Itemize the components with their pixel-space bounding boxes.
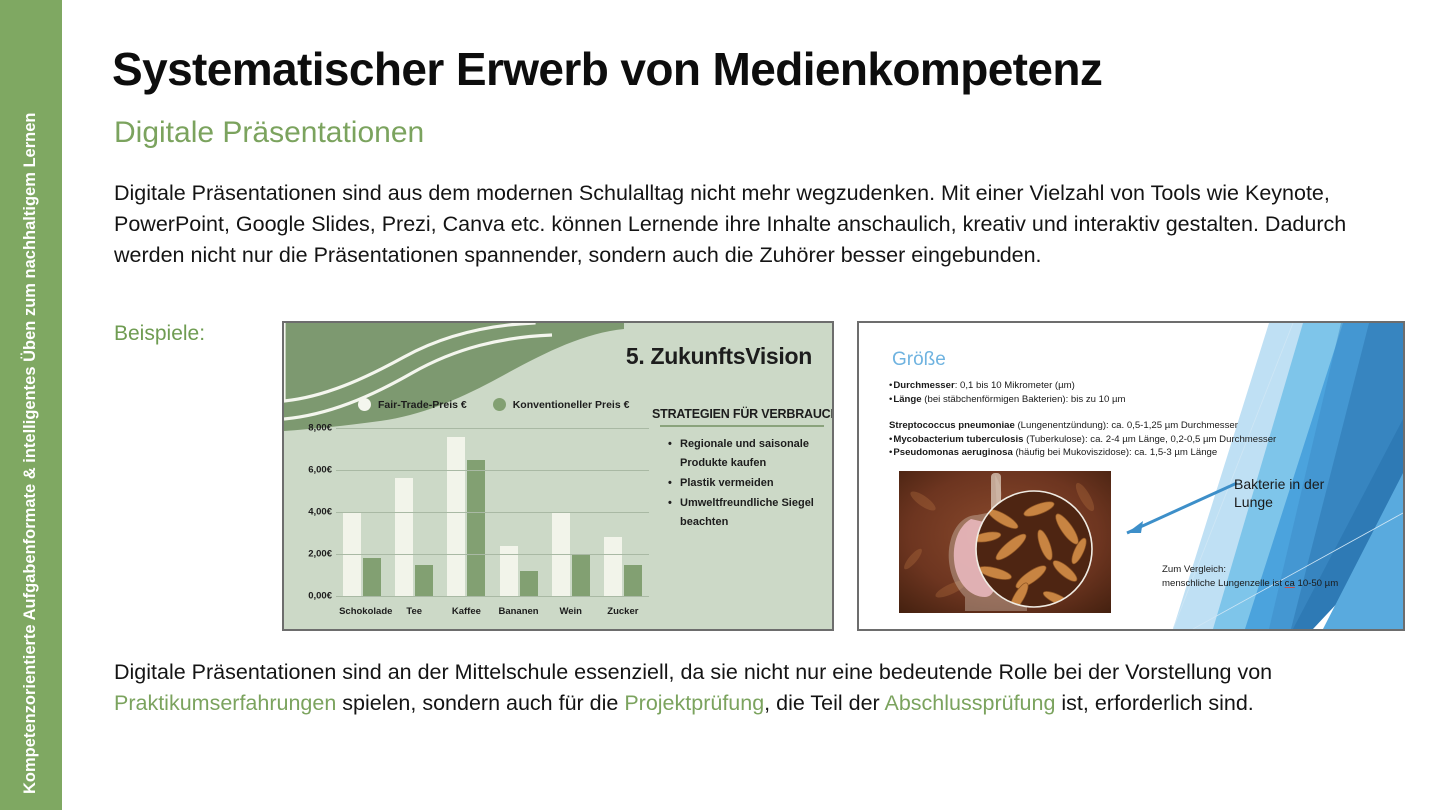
chart-legend: Fair-Trade-Preis € Konventioneller Preis…	[358, 398, 629, 411]
strategies-panel: STRATEGIEN FÜR VERBRAUCHER Regionale und…	[652, 407, 824, 533]
legend-label: Fair-Trade-Preis €	[378, 399, 467, 411]
wave-decoration	[284, 323, 624, 433]
chart-plot-area: SchokoladeTeeKaffeeBananenWeinZucker 0,0…	[294, 423, 649, 623]
bacteria-species-line: Streptococcus pneumoniae (Lungenentzündu…	[889, 419, 1319, 433]
legend-swatch-icon	[358, 398, 371, 411]
x-axis-label: Bananen	[496, 606, 542, 617]
strategies-divider	[660, 425, 824, 427]
callout-label: Bakterie in der Lunge	[1234, 475, 1364, 511]
grid-line	[336, 554, 649, 555]
bar-conventional	[572, 554, 590, 596]
intro-paragraph: Digitale Präsentationen sind aus dem mod…	[114, 178, 1384, 271]
x-axis-label: Tee	[391, 606, 437, 617]
grid-line	[336, 512, 649, 513]
highlight-praktikumserfahrungen: Praktikumserfahrungen	[114, 691, 336, 715]
bacteria-slide-title: Größe	[892, 349, 946, 371]
legend-swatch-icon	[493, 398, 506, 411]
grid-line	[336, 596, 649, 597]
legend-entry-fair-trade: Fair-Trade-Preis €	[358, 398, 467, 411]
bar-conventional	[415, 565, 433, 597]
example-slide-chart[interactable]: 5. ZukunftsVision Fair-Trade-Preis € Kon…	[282, 321, 834, 631]
x-axis-label: Schokolade	[339, 606, 385, 617]
chart-title: 5. ZukunftsVision	[626, 343, 812, 370]
bacteria-species: Streptococcus pneumoniae (Lungenentzündu…	[889, 419, 1319, 460]
bar-conventional	[363, 558, 381, 596]
legend-entry-conventional: Konventioneller Preis €	[493, 398, 630, 411]
page-title: Systematischer Erwerb von Medienkompeten…	[112, 42, 1102, 96]
bacteria-species-line: Pseudomonas aeruginosa (häufig bei Mukov…	[889, 446, 1319, 460]
y-axis-tick: 8,00€	[294, 423, 332, 434]
bar-conventional	[520, 571, 538, 596]
strategy-item: Umweltfreundliche Siegel beachten	[668, 494, 824, 532]
strategies-list: Regionale und saisonale Produkte kaufenP…	[668, 435, 824, 532]
compare-line-1: Zum Vergleich:	[1162, 563, 1392, 577]
callout-arrow-icon	[1111, 481, 1241, 541]
y-axis-tick: 0,00€	[294, 591, 332, 602]
bar-fair-trade	[604, 537, 622, 596]
x-axis-label: Wein	[548, 606, 594, 617]
legend-label: Konventioneller Preis €	[513, 399, 630, 411]
bacteria-fact-line: Durchmesser: 0,1 bis 10 Mikrometer (µm)	[889, 379, 1309, 393]
bacteria-fact-line: Länge (bei stäbchenförmigen Bakterien): …	[889, 393, 1309, 407]
grid-line	[336, 470, 649, 471]
example-slide-bacteria[interactable]: Größe Durchmesser: 0,1 bis 10 Mikrometer…	[857, 321, 1405, 631]
bar-conventional	[467, 460, 485, 597]
bar-fair-trade	[395, 478, 413, 596]
lung-bacteria-photo	[899, 471, 1111, 613]
highlight-abschlusspruefung: Abschlussprüfung	[885, 691, 1056, 715]
y-axis-tick: 6,00€	[294, 465, 332, 476]
bar-conventional	[624, 565, 642, 597]
comparison-note: Zum Vergleich:menschliche Lungenzelle is…	[1162, 563, 1392, 590]
bar-fair-trade	[447, 437, 465, 596]
page-subtitle: Digitale Präsentationen	[114, 116, 424, 150]
closing-paragraph: Digitale Präsentationen sind an der Mitt…	[114, 657, 1404, 719]
compare-line-2: menschliche Lungenzelle ist ca 10-50 µm	[1162, 577, 1392, 591]
examples-label: Beispiele:	[114, 322, 205, 346]
y-axis-tick: 2,00€	[294, 549, 332, 560]
sidebar: Kompetenzorientierte Aufgabenformate & i…	[0, 0, 62, 810]
strategy-item: Regionale und saisonale Produkte kaufen	[668, 435, 824, 473]
y-axis-tick: 4,00€	[294, 507, 332, 518]
bacteria-facts: Durchmesser: 0,1 bis 10 Mikrometer (µm)L…	[889, 379, 1309, 406]
x-axis-label: Kaffee	[443, 606, 489, 617]
chart-x-axis: SchokoladeTeeKaffeeBananenWeinZucker	[336, 606, 649, 617]
sidebar-label: Kompetenzorientierte Aufgabenformate & i…	[21, 113, 40, 794]
strategies-title: STRATEGIEN FÜR VERBRAUCHER	[652, 407, 824, 421]
strategy-item: Plastik vermeiden	[668, 474, 824, 493]
x-axis-label: Zucker	[600, 606, 646, 617]
highlight-projektpruefung: Projektprüfung	[624, 691, 764, 715]
bacteria-species-line: Mycobacterium tuberculosis (Tuberkulose)…	[889, 433, 1319, 447]
grid-line	[336, 428, 649, 429]
